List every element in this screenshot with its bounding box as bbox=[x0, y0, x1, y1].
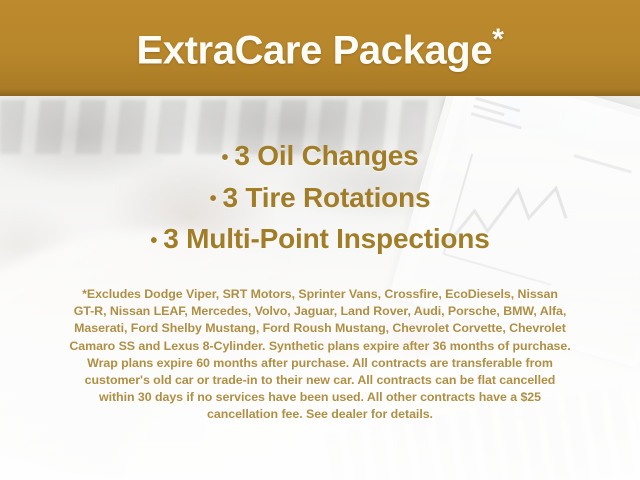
bullet-dot-icon: • bbox=[222, 147, 229, 169]
benefit-item-label: 3 Multi-Point Inspections bbox=[163, 223, 489, 254]
disclaimer-line: GT-R, Nissan LEAF, Mercedes, Volvo, Jagu… bbox=[32, 303, 608, 320]
benefit-item: •3 Tire Rotations bbox=[0, 178, 640, 220]
extracare-package-ad: ExtraCare Package* •3 Oil Changes •3 Tir… bbox=[0, 0, 640, 480]
header-banner: ExtraCare Package* bbox=[0, 0, 640, 96]
disclaimer-line: cancellation fee. See dealer for details… bbox=[32, 406, 608, 423]
bullet-dot-icon: • bbox=[150, 230, 157, 252]
benefit-item: •3 Multi-Point Inspections bbox=[0, 219, 640, 261]
disclaimer-line: Camaro SS and Lexus 8-Cylinder. Syntheti… bbox=[32, 338, 608, 355]
disclaimer-line: Wrap plans expire 60 months after purcha… bbox=[32, 355, 608, 372]
page-title-text: ExtraCare Package bbox=[137, 29, 493, 73]
benefit-item-label: 3 Tire Rotations bbox=[222, 182, 430, 213]
disclaimer-line: customer's old car or trade-in to their … bbox=[32, 372, 608, 389]
benefits-list: •3 Oil Changes •3 Tire Rotations •3 Mult… bbox=[0, 136, 640, 261]
benefit-item-label: 3 Oil Changes bbox=[234, 140, 418, 171]
disclaimer-line: *Excludes Dodge Viper, SRT Motors, Sprin… bbox=[32, 286, 608, 303]
title-asterisk: * bbox=[492, 23, 503, 56]
benefit-item: •3 Oil Changes bbox=[0, 136, 640, 178]
page-title: ExtraCare Package* bbox=[137, 25, 504, 70]
disclaimer-text: *Excludes Dodge Viper, SRT Motors, Sprin… bbox=[32, 286, 608, 424]
disclaimer-line: Maserati, Ford Shelby Mustang, Ford Rous… bbox=[32, 320, 608, 337]
disclaimer-line: within 30 days if no services have been … bbox=[32, 389, 608, 406]
bullet-dot-icon: • bbox=[210, 188, 217, 210]
